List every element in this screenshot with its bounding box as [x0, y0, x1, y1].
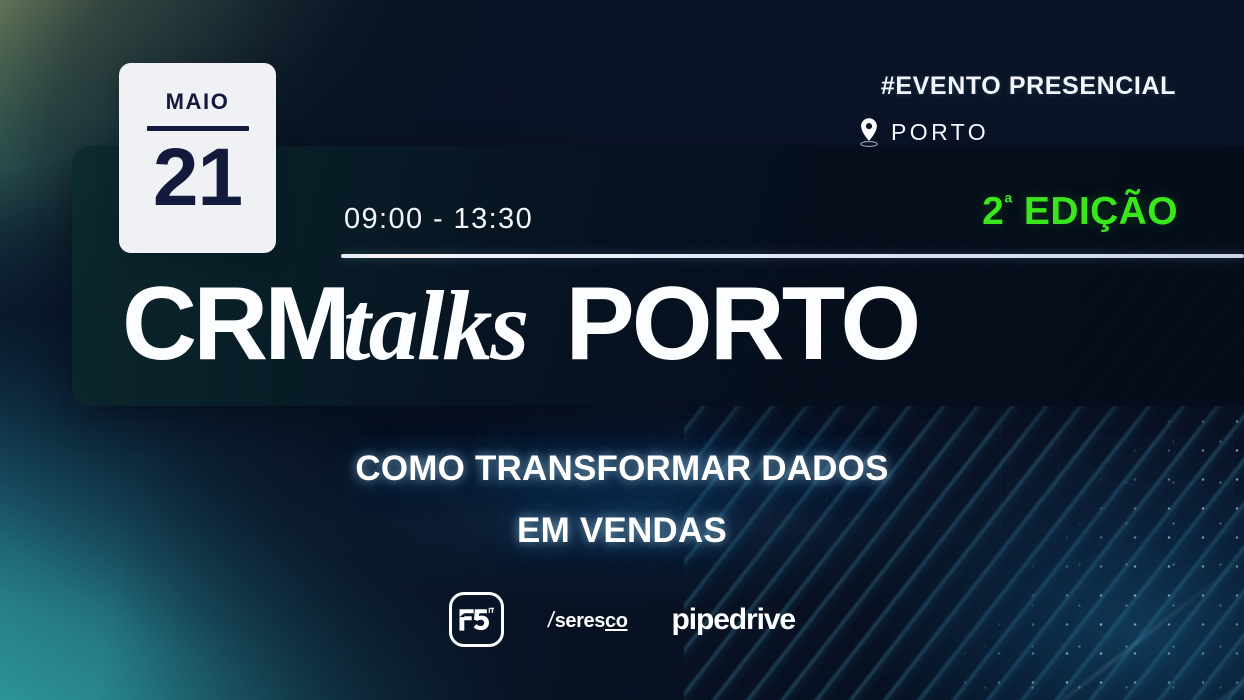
- location-pin-icon: [858, 117, 880, 147]
- pipedrive-logo: pipedrive: [672, 603, 795, 637]
- event-time: 09:00 - 13:30: [344, 203, 533, 236]
- seresco-logo: / seres co: [548, 607, 628, 633]
- event-hashtag: #EVENTO PRESENCIAL: [881, 72, 1176, 101]
- sponsor-logo-row: IT / seres co pipedrive: [0, 592, 1244, 647]
- seresco-text-underlined: co: [605, 610, 628, 633]
- edition-number: 2: [982, 190, 1004, 233]
- seresco-text: seres: [555, 610, 605, 633]
- calendar-card: MAIO 21: [119, 63, 276, 253]
- edition-word: EDIÇÃO: [1013, 190, 1178, 233]
- header-divider-line: [341, 254, 1244, 258]
- title-brand-italic: talks: [343, 276, 527, 376]
- f5-it-logo: IT: [449, 592, 504, 647]
- subtitle-line-1: COMO TRANSFORMAR DADOS: [0, 438, 1244, 500]
- location-city-label: PORTO: [891, 119, 989, 146]
- title-city: PORTO: [565, 272, 918, 376]
- calendar-day-number: 21: [153, 135, 242, 220]
- calendar-divider: [147, 126, 249, 131]
- page-title: CRM talks PORTO: [122, 272, 918, 376]
- svg-text:IT: IT: [489, 607, 495, 615]
- edition-ordinal: ª: [1004, 190, 1012, 215]
- subtitle-line-2: EM VENDAS: [0, 500, 1244, 562]
- location-row: PORTO: [858, 117, 989, 147]
- calendar-month-label: MAIO: [166, 89, 230, 115]
- title-brand-bold: CRM: [122, 272, 347, 376]
- event-subtitle: COMO TRANSFORMAR DADOS EM VENDAS: [0, 438, 1244, 563]
- edition-badge: 2ª EDIÇÃO: [982, 192, 1178, 231]
- event-banner: MAIO 21 #EVENTO PRESENCIAL PORTO 2ª EDIÇ…: [0, 0, 1244, 700]
